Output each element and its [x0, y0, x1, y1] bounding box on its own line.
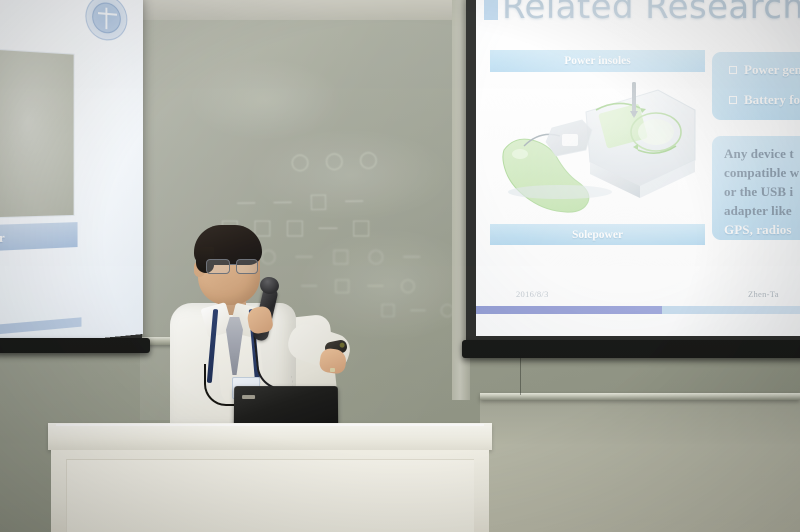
university-seal-icon — [85, 0, 127, 42]
left-projection-screen: Solepower 7/24 — [0, 0, 143, 356]
right-projection-screen: Related Research(2/2) Power insoles — [476, 0, 800, 336]
presenter-laptop — [234, 386, 338, 426]
finger-ring — [330, 368, 335, 372]
left-slide-caption: Solepower — [0, 222, 78, 257]
left-caption-label: Solepower — [0, 229, 5, 248]
laptop-logo — [242, 395, 255, 399]
podium-front-panel — [66, 459, 474, 532]
presenter-hand-holding-microphone — [246, 305, 274, 335]
slide-date: 2016/8/3 — [516, 289, 549, 299]
slide-author: Zhen-Ta — [748, 289, 779, 299]
body-line-highlight: GPS, radios — [724, 222, 792, 238]
slide-title-accent — [484, 0, 498, 20]
body-line: compatible w — [724, 165, 799, 181]
body-line: Any device t — [724, 146, 794, 162]
laptop-lid — [234, 386, 338, 426]
eyeglasses-icon — [206, 259, 262, 274]
bullet-item: Power gene — [729, 62, 800, 78]
figure-caption-bottom-label: Solepower — [572, 229, 623, 241]
left-screen-roller-bar — [0, 338, 150, 353]
figure-caption-bottom: Solepower — [490, 224, 705, 245]
chalk-ledge-right — [480, 393, 800, 400]
checkbox-icon — [729, 66, 737, 74]
lecture-hall-photo: ○ ○ ○ — — □ — □ □ □ — □ ○ — □ ○ — — □ — … — [0, 0, 800, 532]
checkbox-icon — [729, 96, 737, 104]
figure-caption-top: Power insoles — [490, 50, 705, 72]
blackboard-lower-panel — [480, 400, 800, 532]
right-slide: Related Research(2/2) Power insoles — [476, 0, 800, 336]
podium — [48, 423, 492, 532]
body-line: adapter like — [724, 203, 792, 219]
right-screen-roller-bar — [462, 340, 800, 358]
podium-top-surface — [48, 423, 492, 450]
power-insole-diagram — [490, 76, 705, 221]
bullet-item: Battery for — [729, 92, 800, 108]
figure-caption-top-label: Power insoles — [564, 55, 631, 67]
body-line: or the USB i — [724, 184, 793, 200]
left-slide-media-placeholder — [0, 41, 75, 222]
bullet-label: Battery for — [744, 92, 800, 107]
left-slide: Solepower 7/24 — [0, 0, 143, 356]
bullet-label: Power gene — [744, 62, 800, 77]
slide-title: Related Research(2/2) — [502, 0, 800, 27]
slide-footer-bar — [476, 306, 800, 314]
